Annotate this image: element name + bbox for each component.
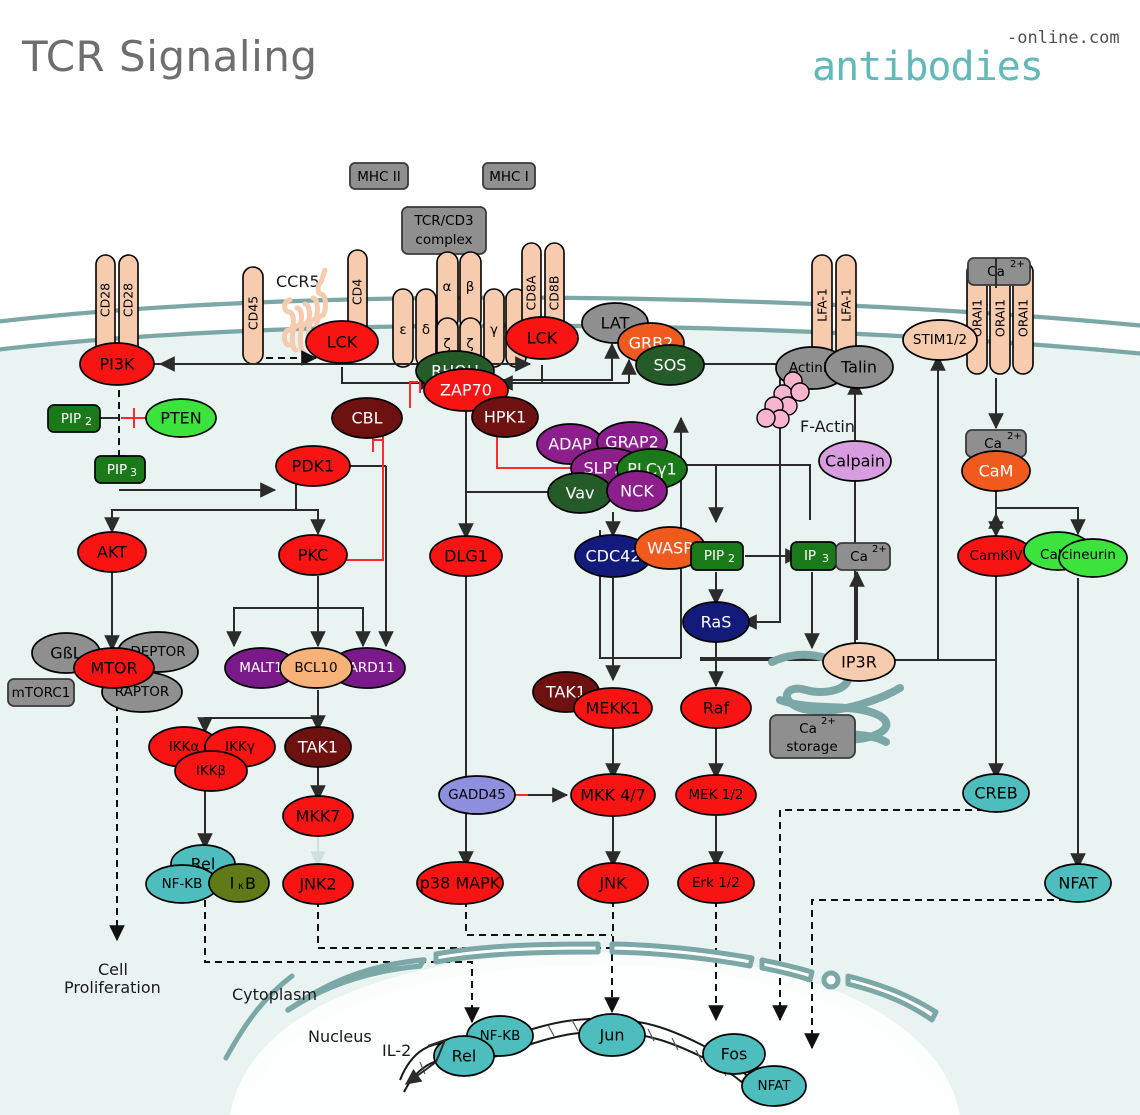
node-label-mtor: MTOR <box>90 659 137 678</box>
ip3-label: IP <box>804 548 816 564</box>
node-label-fos: Fos <box>721 1045 748 1064</box>
tcr-subunit-delta: δ <box>422 322 430 338</box>
receptor-label-cd8b: CD8B <box>547 276 562 311</box>
node-label-calpain: Calpain <box>825 452 885 471</box>
node-label-cdc42: CDC42 <box>585 547 640 566</box>
node-jnk2[interactable]: JNK2 <box>283 864 353 904</box>
node-p38-mapk[interactable]: p38 MAPK <box>417 862 503 904</box>
receptor-label-cd45: CD45 <box>246 296 261 330</box>
node-label-nfat-nuc: NFAT <box>757 1078 791 1094</box>
receptor-cd45: CD45 <box>243 267 263 364</box>
ca-storage-label-1: Ca <box>799 721 817 737</box>
receptor-label-lfa1-a: LFA-1 <box>815 288 830 322</box>
node-label-mekk1: MEKK1 <box>585 699 640 718</box>
node-pi3k[interactable]: PI3K <box>80 343 154 385</box>
node-label-ikb-end: B <box>245 874 256 893</box>
ip3-subscript: 3 <box>822 552 829 565</box>
node-pdk1[interactable]: PDK1 <box>276 446 350 486</box>
node-label-cbl: CBL <box>351 409 382 428</box>
node-label-pten: PTEN <box>160 409 202 428</box>
node-label-rel-nuc: Rel <box>452 1047 477 1066</box>
node-label-jnk: JNK <box>598 874 627 893</box>
node-label-hpk1: HPK1 <box>484 408 526 427</box>
receptor-label-cd28-a: CD28 <box>98 283 113 317</box>
calcium-extracellular-box: Ca 2+ <box>968 258 1030 285</box>
node-pip3: PIP 3 <box>95 456 145 483</box>
node-label-nfkb-cyt: NF-KB <box>162 876 203 892</box>
tcr-title-line2: complex <box>415 232 472 248</box>
node-label-calcineurin: Calcineurin <box>1040 547 1116 563</box>
node-label-mkk7: MKK7 <box>296 807 341 826</box>
ca-cyt-label: Ca <box>850 549 868 565</box>
node-label-nfat-cyt: NFAT <box>1058 874 1097 893</box>
cell-proliferation-line2: Proliferation <box>64 978 161 997</box>
node-nck[interactable]: NCK <box>607 471 667 511</box>
node-label-gadd45: GADD45 <box>448 787 506 803</box>
tcr-cd3-complex-box: TCR/CD3 complex <box>402 207 486 254</box>
node-label-camkiv: CamKIV <box>970 548 1024 564</box>
pip2-right-label: PIP <box>704 548 724 564</box>
nucleus-label: Nucleus <box>308 1027 372 1046</box>
mhc-i-box: MHC I <box>483 163 535 189</box>
mtorc1-box: mTORC1 <box>8 679 74 706</box>
node-label-cam: CaM <box>979 462 1014 481</box>
node-mekk1[interactable]: MEKK1 <box>574 688 652 728</box>
node-label-erk12: Erk 1/2 <box>692 875 740 891</box>
node-label-creb: CREB <box>974 784 1017 803</box>
diagram-canvas: TCR Signaling antibodies -online.com <box>0 0 1140 1115</box>
node-pip2-right: PIP 2 <box>691 542 743 570</box>
node-label-stim12: STIM1/2 <box>913 332 967 348</box>
node-label-ip3r: IP3R <box>841 653 877 672</box>
node-jnk[interactable]: JNK <box>578 863 648 903</box>
node-erk12[interactable]: Erk 1/2 <box>678 863 754 903</box>
node-label-nck: NCK <box>620 482 654 501</box>
cytoplasm-label: Cytoplasm <box>232 985 317 1004</box>
node-tak1-left[interactable]: TAK1 <box>285 727 351 767</box>
node-fos[interactable]: Fos <box>703 1034 765 1074</box>
tcr-title-line1: TCR/CD3 <box>413 213 473 229</box>
ca-in-superscript: 2+ <box>1007 431 1022 442</box>
node-nfat-cytoplasm[interactable]: NFAT <box>1045 864 1111 902</box>
node-label-p38: p38 MAPK <box>420 874 501 893</box>
node-label-ikkb: IKKβ <box>196 763 226 779</box>
node-label-talin: Talin <box>840 358 877 377</box>
node-jun[interactable]: Jun <box>579 1014 645 1056</box>
node-lck-cd4[interactable]: LCK <box>306 321 378 363</box>
il2-label: IL-2 <box>382 1041 411 1060</box>
node-label-vav: Vav <box>566 484 595 503</box>
f-actin-label: F-Actin <box>800 417 855 436</box>
node-label-malt1: MALT1 <box>239 660 282 676</box>
node-sos[interactable]: SOS <box>636 345 704 385</box>
node-label-lck-2: LCK <box>527 329 558 348</box>
receptor-label-cd8a: CD8A <box>524 275 539 310</box>
node-ip3: IP 3 <box>791 542 836 570</box>
node-vav[interactable]: Vav <box>548 473 612 513</box>
mhc-i-label: MHC I <box>489 169 529 185</box>
node-hpk1[interactable]: HPK1 <box>472 397 538 437</box>
node-dlg1[interactable]: DLG1 <box>430 536 502 576</box>
receptor-label-lfa1-b: LFA-1 <box>839 288 854 322</box>
node-label-wasp: WASP <box>647 539 693 558</box>
ca-cyt-superscript: 2+ <box>872 544 887 555</box>
node-label-jnk2: JNK2 <box>298 875 336 894</box>
mhc-ii-label: MHC II <box>357 169 400 185</box>
cell-proliferation-line1: Cell <box>98 960 128 979</box>
node-stim12[interactable]: STIM1/2 <box>903 320 977 360</box>
ca-in-label: Ca <box>984 436 1002 452</box>
node-label-sos: SOS <box>654 356 687 375</box>
node-label-mek12: MEK 1/2 <box>688 787 743 803</box>
node-label-ras: RaS <box>701 613 732 632</box>
node-label-pdk1: PDK1 <box>292 457 335 476</box>
node-label-zap70: ZAP70 <box>440 381 492 400</box>
node-mkk7[interactable]: MKK7 <box>283 796 353 836</box>
pip3-subscript: 3 <box>130 466 137 479</box>
pip2-left-label: PIP <box>61 411 81 427</box>
pathway-svg: MHC II MHC I TCR/CD3 complex CD28 CD28 C… <box>0 0 1140 1115</box>
node-label-lck-1: LCK <box>327 333 358 352</box>
pip2-right-subscript: 2 <box>728 552 735 565</box>
mhc-ii-box: MHC II <box>350 163 408 189</box>
tcr-subunit-beta: β <box>466 279 475 295</box>
node-label-ikkg: IKKγ <box>225 739 255 755</box>
node-calpain[interactable]: Calpain <box>819 441 891 481</box>
node-pkc[interactable]: PKC <box>279 535 347 575</box>
node-label-raf: Raf <box>703 699 730 718</box>
node-raf[interactable]: Raf <box>681 688 751 728</box>
node-mek12[interactable]: MEK 1/2 <box>676 775 756 815</box>
node-ip3r[interactable]: IP3R <box>823 643 895 681</box>
node-label-pi3k: PI3K <box>99 355 135 374</box>
node-calcium-cytosol: Ca 2+ <box>836 543 890 570</box>
node-ikb[interactable]: I κ B <box>209 864 269 902</box>
node-label-mkk47: MKK 4/7 <box>580 786 646 805</box>
node-mkk47[interactable]: MKK 4/7 <box>571 774 655 816</box>
receptor-label-orai1-b: ORAI1 <box>993 299 1008 337</box>
node-akt[interactable]: AKT <box>78 532 146 572</box>
node-lck-cd8[interactable]: LCK <box>506 317 578 359</box>
node-label-pkc: PKC <box>298 546 328 565</box>
calcium-storage-box: Ca 2+ storage <box>770 715 855 758</box>
node-talin[interactable]: Talin <box>825 346 893 388</box>
ca-ext-superscript: 2+ <box>1010 259 1025 270</box>
node-rel-nucleus[interactable]: Rel <box>434 1036 494 1076</box>
receptor-label-cd28-b: CD28 <box>121 283 136 317</box>
tcr-subunit-alpha: α <box>443 279 452 295</box>
node-ikk-beta[interactable]: IKKβ <box>175 751 247 791</box>
node-label-dlg1: DLG1 <box>444 547 488 566</box>
node-label-tak1-left: TAK1 <box>297 738 338 757</box>
node-cbl[interactable]: CBL <box>332 398 402 438</box>
receptor-label-cd4: CD4 <box>350 279 365 305</box>
pip3-label: PIP <box>107 462 127 478</box>
node-bcl10[interactable]: BCL10 <box>280 648 352 688</box>
node-label-adap: ADAP <box>548 435 592 454</box>
node-camkiv[interactable]: CamKIV <box>958 536 1034 576</box>
node-label-ikb-sub: κ <box>238 881 244 892</box>
node-label-ikb: I <box>230 874 235 893</box>
receptor-label-orai1-c: ORAI1 <box>1016 299 1031 337</box>
mtorc1-label: mTORC1 <box>12 685 71 701</box>
node-pten[interactable]: PTEN <box>146 399 216 437</box>
ca-storage-label-2: storage <box>786 739 837 755</box>
node-creb[interactable]: CREB <box>963 774 1029 812</box>
node-pip2-left: PIP 2 <box>48 405 100 432</box>
node-nfkb-cytoplasm[interactable]: NF-KB <box>146 865 218 903</box>
tcr-subunit-zeta-1: ζ <box>443 336 450 352</box>
tcr-subunit-epsilon-1: ε <box>399 322 406 338</box>
ca-storage-superscript: 2+ <box>821 716 836 727</box>
node-label-jun: Jun <box>599 1026 625 1045</box>
node-gadd45[interactable]: GADD45 <box>439 776 515 814</box>
node-mtor[interactable]: MTOR <box>74 648 154 688</box>
pip2-left-subscript: 2 <box>85 415 92 428</box>
node-label-akt: AKT <box>97 543 127 562</box>
node-cam[interactable]: CaM <box>962 451 1030 491</box>
node-ras[interactable]: RaS <box>683 602 749 642</box>
node-label-bcl10: BCL10 <box>294 660 337 676</box>
node-nfat-nucleus[interactable]: NFAT <box>742 1066 806 1106</box>
tcr-subunit-zeta-2: ζ <box>466 336 473 352</box>
ccr5-label: CCR5 <box>276 272 320 291</box>
tcr-subunit-gamma: γ <box>490 322 498 338</box>
